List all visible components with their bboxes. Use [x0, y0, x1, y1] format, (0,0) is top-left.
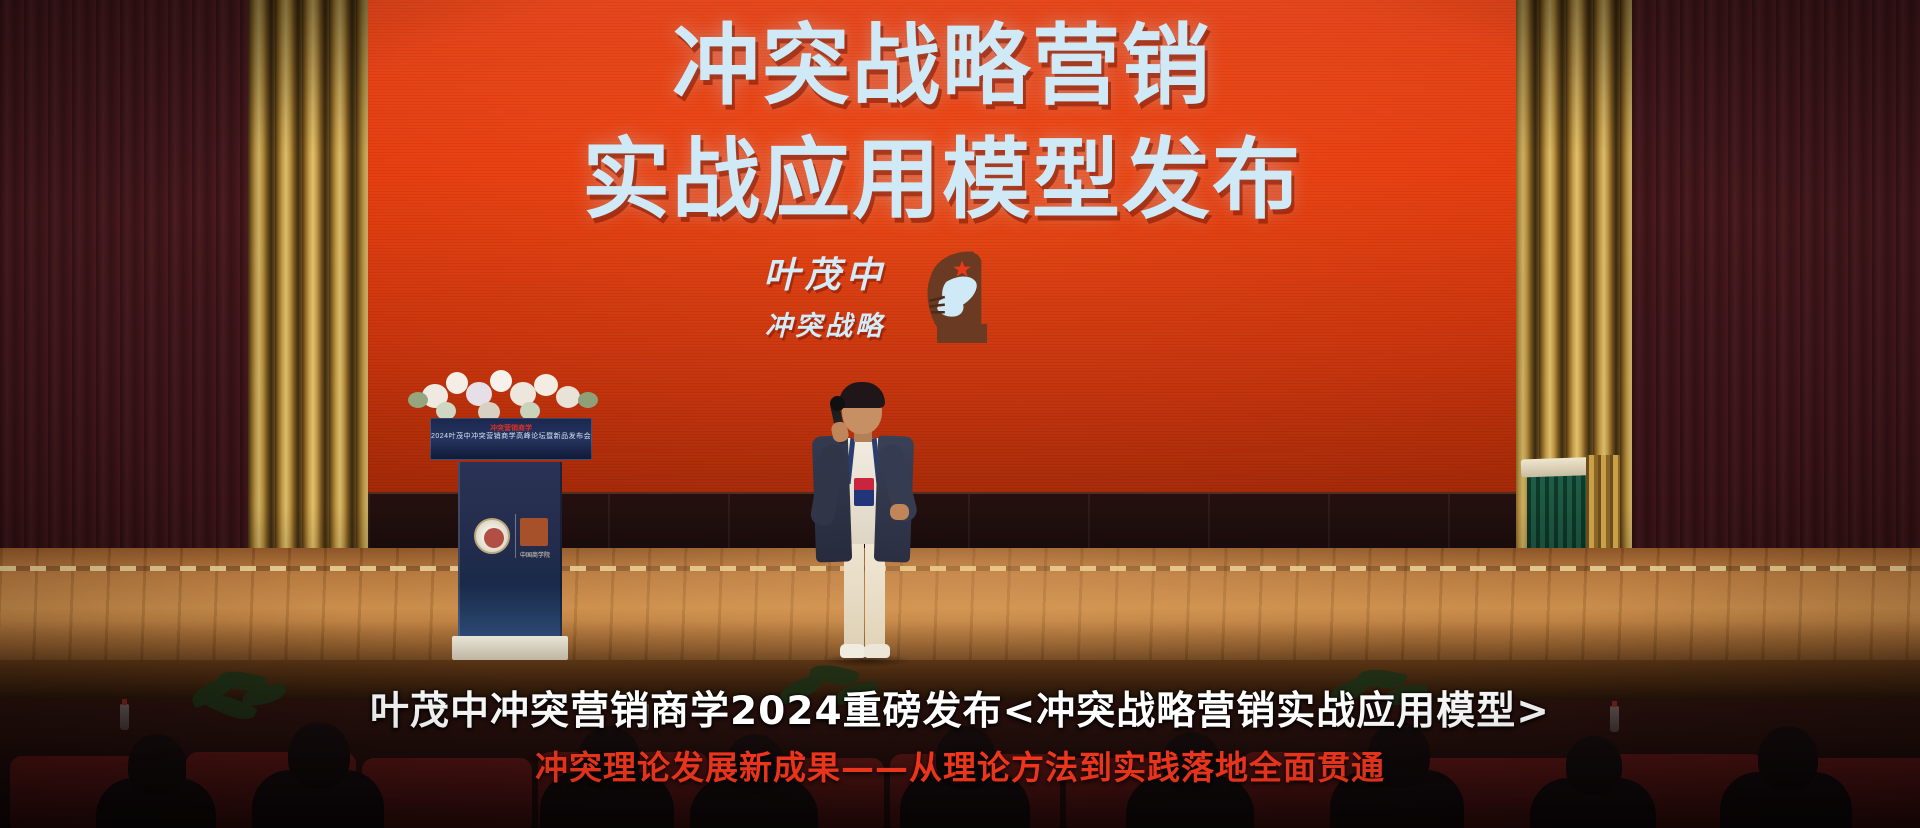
podium: 冲突营销商学 2024叶茂中冲突营销商学高峰论坛暨新品发布会 中国商学院 [452, 418, 570, 668]
podium-seal-inner-icon [484, 528, 504, 548]
speaker-shoe-left [840, 644, 866, 658]
podium-emblem-label: 中国商学院 [512, 550, 558, 559]
brand-tagline: 冲突战略 [763, 304, 886, 343]
speaker-shoe-right [864, 644, 890, 658]
brand-logo: 叶茂中 冲突战略 [763, 246, 1000, 343]
podium-banner: 冲突营销商学 2024叶茂中冲突营销商学高峰论坛暨新品发布会 [430, 418, 592, 460]
speaker-hair [839, 382, 885, 408]
podium-banner-text: 2024叶茂中冲突营销商学高峰论坛暨新品发布会 [431, 431, 591, 441]
caption-main-line: 叶茂中冲突营销商学2024重磅发布<冲突战略营销实战应用模型> [0, 692, 1920, 733]
brand-name: 叶茂中 [763, 246, 886, 298]
microphone-head-icon [830, 396, 845, 411]
screen-title-line-2: 实战应用模型发布 [368, 136, 1516, 224]
podium-seal-icon [474, 518, 510, 554]
conference-stage-scene: 冲突战略营销 实战应用模型发布 叶茂中 冲突战略 [0, 0, 1920, 828]
screen-title-line-1: 冲突战略营销 [368, 22, 1516, 110]
podium-emblem-icon [520, 518, 548, 546]
podium-body: 中国商学院 [458, 462, 562, 638]
speaker-figure [786, 386, 936, 666]
speaker-badge [854, 478, 874, 506]
capped-head-profile-icon [905, 247, 1001, 343]
caption-block: 叶茂中冲突营销商学2024重磅发布<冲突战略营销实战应用模型> 冲突理论发展新成… [0, 692, 1920, 786]
brand-wordmark: 叶茂中 冲突战略 [763, 246, 886, 343]
podium-base [452, 636, 568, 660]
caption-sub-line: 冲突理论发展新成果——从理论方法到实践落地全面贯通 [0, 751, 1920, 786]
speaker-hand-right [890, 504, 909, 520]
